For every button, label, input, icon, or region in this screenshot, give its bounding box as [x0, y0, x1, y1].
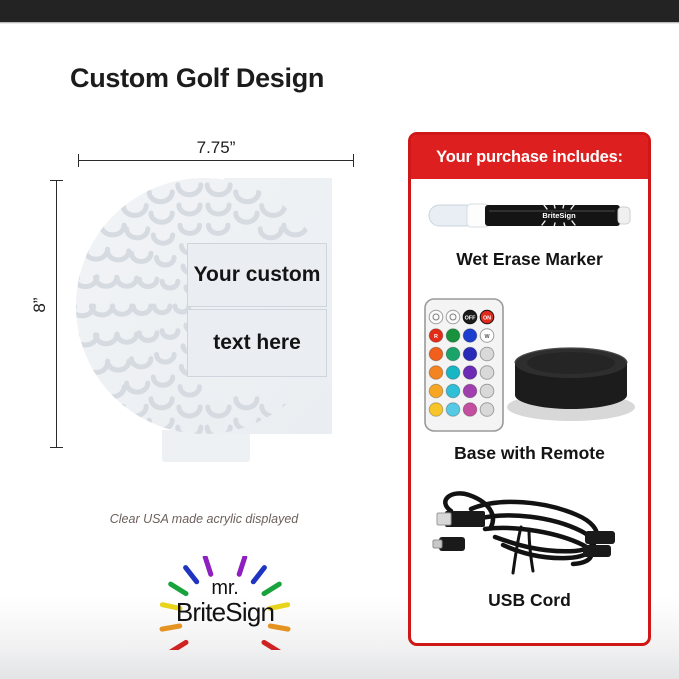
includes-panel: Your purchase includes: BriteSign [408, 132, 651, 646]
item-label-usb: USB Cord [411, 590, 648, 611]
svg-text:OFF: OFF [465, 315, 476, 321]
includes-panel-header: Your purchase includes: [411, 135, 648, 179]
top-black-bar [0, 0, 679, 22]
width-dimension-line [78, 160, 354, 161]
top-bar-shadow [0, 22, 679, 24]
base-remote-icon: OFFONRW [419, 295, 643, 435]
width-dimension-label: 7.75” [78, 138, 354, 158]
logo-text: mr. BriteSign [140, 578, 310, 626]
height-tick-top [50, 180, 63, 181]
custom-text-box-2: text here [187, 309, 327, 377]
page-title: Custom Golf Design [70, 63, 324, 94]
item-label-marker: Wet Erase Marker [411, 249, 648, 270]
product-preview: Your custom text here [76, 178, 332, 470]
logo-line-2: BriteSign [140, 599, 310, 626]
item-label-base: Base with Remote [411, 443, 648, 464]
height-tick-bottom [50, 447, 63, 448]
acrylic-caption: Clear USA made acrylic displayed [44, 512, 364, 526]
svg-text:BriteSign: BriteSign [542, 211, 576, 220]
marker-icon: BriteSign [415, 191, 646, 239]
custom-text-box-1: Your custom [187, 243, 327, 307]
width-tick-left [78, 154, 79, 167]
usb-cord-icon [425, 475, 637, 585]
svg-text:R: R [434, 334, 438, 340]
acrylic-stand [162, 430, 250, 462]
height-dimension-label: 8” [30, 275, 50, 335]
brand-logo: mr. BriteSign [140, 556, 310, 650]
logo-line-1: mr. [140, 578, 310, 599]
svg-text:ON: ON [483, 315, 491, 321]
product-infographic: Custom Golf Design 7.75” 8” Your custom … [0, 0, 679, 679]
width-tick-right [353, 154, 354, 167]
height-dimension-line [56, 180, 57, 448]
